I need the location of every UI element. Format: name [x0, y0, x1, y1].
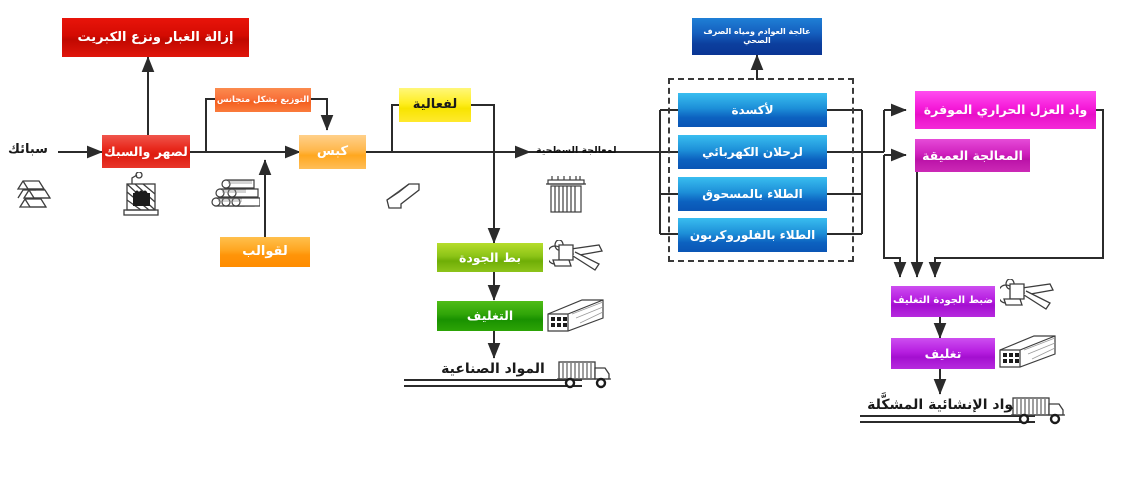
input-ingots-label: سبائك [8, 142, 48, 157]
node-molds[interactable]: لقوالب [220, 237, 310, 267]
extruded-profile-bundle-icon [998, 334, 1056, 372]
node-extrusion[interactable]: كبس [299, 135, 366, 169]
terminator-rule-top [860, 415, 1035, 417]
node-dust-sulfur-removal[interactable]: إزالة الغبار ونزع الكبريت [62, 18, 249, 57]
delivery-truck-icon [556, 358, 614, 392]
node-efficiency[interactable]: لفعالية [399, 88, 471, 122]
node-treatment-fluorocarbon-coating[interactable]: الطلاء بالفلوروكربون [678, 218, 827, 252]
node-construction-packaging-quality-control[interactable]: ضبط الجودة التغليف [891, 286, 995, 317]
node-industrial-quality-control[interactable]: بط الجودة [437, 243, 543, 272]
node-melting-casting[interactable]: لصهر والسبك [102, 135, 190, 168]
terminator-construction-materials: لمواد الإنشائية المشكَّلة [860, 397, 1035, 423]
terminator-rule-bottom [860, 421, 1035, 423]
delivery-truck-icon [1010, 394, 1068, 428]
node-deep-treatment[interactable]: المعالجة العميقة [915, 139, 1030, 172]
caliper-gauge-icon [549, 240, 603, 276]
node-construction-packaging[interactable]: تغليف [891, 338, 995, 369]
extruded-profile-bundle-icon [546, 298, 604, 336]
billet-bundle-icon [208, 176, 260, 220]
furnace-icon [118, 172, 164, 222]
h-profile-icon: H [375, 178, 423, 218]
flowchart-canvas: سبائك إزالة الغبار ونزع الكبريت لصهر وال… [0, 0, 1133, 482]
caliper-gauge-icon [1000, 279, 1054, 315]
node-treatment-anodizing[interactable]: لأكسدة [678, 93, 827, 127]
terminator-construction-materials-label: لمواد الإنشائية المشكَّلة [860, 397, 1035, 415]
anodizing-tank-icon [545, 172, 587, 216]
node-exhaust-wastewater-treatment[interactable]: عالجة العوادم ومياه الصرف الصحي [692, 18, 822, 55]
node-treatment-electrophoresis[interactable]: لرحلان الكهربائي [678, 135, 827, 169]
svg-text:H: H [375, 195, 376, 215]
node-treatment-powder-coating[interactable]: الطلاء بالمسحوق [678, 177, 827, 211]
node-industrial-packaging[interactable]: التغليف [437, 301, 543, 331]
node-thermal-insulation[interactable]: واد العزل الحراري الموفرة [915, 91, 1096, 129]
node-homogeneous-distribution[interactable]: التوزيع بشكل متجانس [215, 88, 311, 112]
label-surface-treatment: لمعالجة السطحية [536, 145, 617, 156]
ingot-stack-icon [12, 176, 56, 220]
